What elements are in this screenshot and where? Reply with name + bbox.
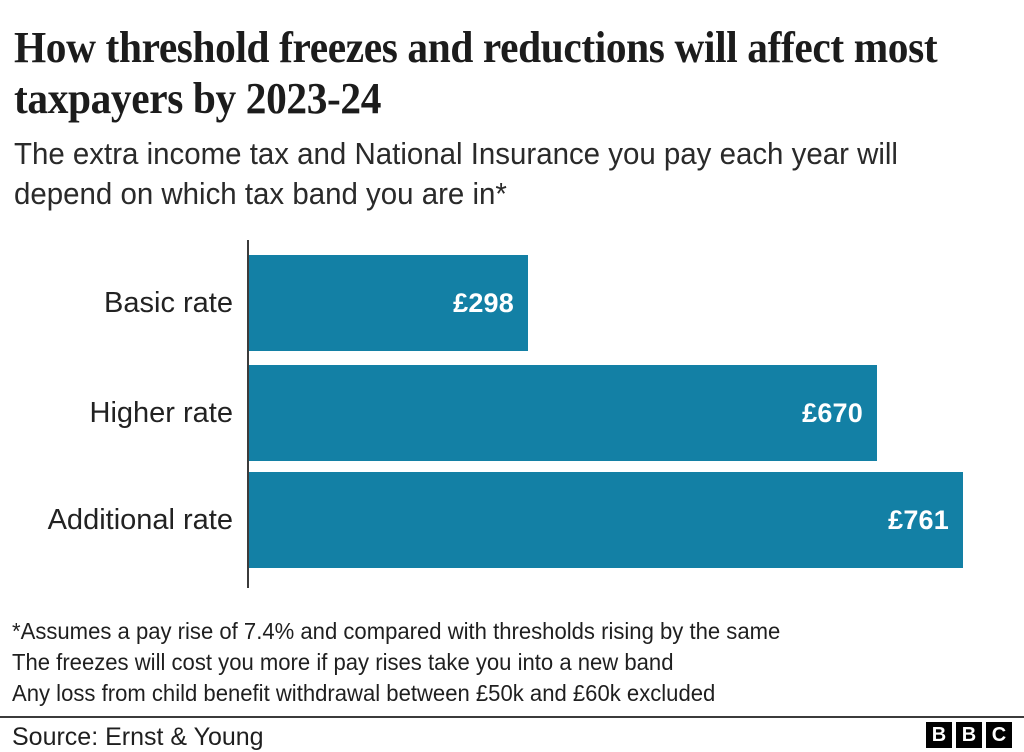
category-label-higher-rate: Higher rate: [0, 365, 233, 461]
footnote-line-1: *Assumes a pay rise of 7.4% and compared…: [12, 616, 972, 647]
bbc-chart-graphic: How threshold freezes and reductions wil…: [0, 0, 1024, 752]
bar-value-label: £298: [453, 288, 514, 319]
bbc-logo: B B C: [926, 722, 1012, 748]
category-label-basic-rate: Basic rate: [0, 255, 233, 351]
bbc-logo-letter-3: C: [986, 722, 1012, 748]
chart-header: How threshold freezes and reductions wil…: [14, 22, 1004, 214]
chart-footnotes: *Assumes a pay rise of 7.4% and compared…: [12, 616, 1012, 709]
bar-value-label: £761: [888, 505, 949, 536]
bar-value-label: £670: [802, 398, 863, 429]
bar-basic-rate[interactable]: £298: [249, 255, 528, 351]
category-label-additional-rate: Additional rate: [0, 472, 233, 568]
bbc-logo-letter-2: B: [956, 722, 982, 748]
source-label: Source: Ernst & Young: [12, 722, 264, 752]
footer-divider: [0, 716, 1024, 718]
bar-higher-rate[interactable]: £670: [249, 365, 877, 461]
chart-plot-area: Basic rate £298 Higher rate £670 Additio…: [0, 240, 1024, 592]
bar-additional-rate[interactable]: £761: [249, 472, 963, 568]
footnote-line-2: The freezes will cost you more if pay ri…: [12, 647, 972, 678]
page-title: How threshold freezes and reductions wil…: [14, 22, 945, 124]
bar-row: Additional rate £761: [0, 472, 1024, 568]
bbc-logo-letter-1: B: [926, 722, 952, 748]
bar-row: Basic rate £298: [0, 255, 1024, 351]
bar-row: Higher rate £670: [0, 365, 1024, 461]
footnote-line-3: Any loss from child benefit withdrawal b…: [12, 678, 972, 709]
chart-subtitle: The extra income tax and National Insura…: [14, 124, 955, 214]
